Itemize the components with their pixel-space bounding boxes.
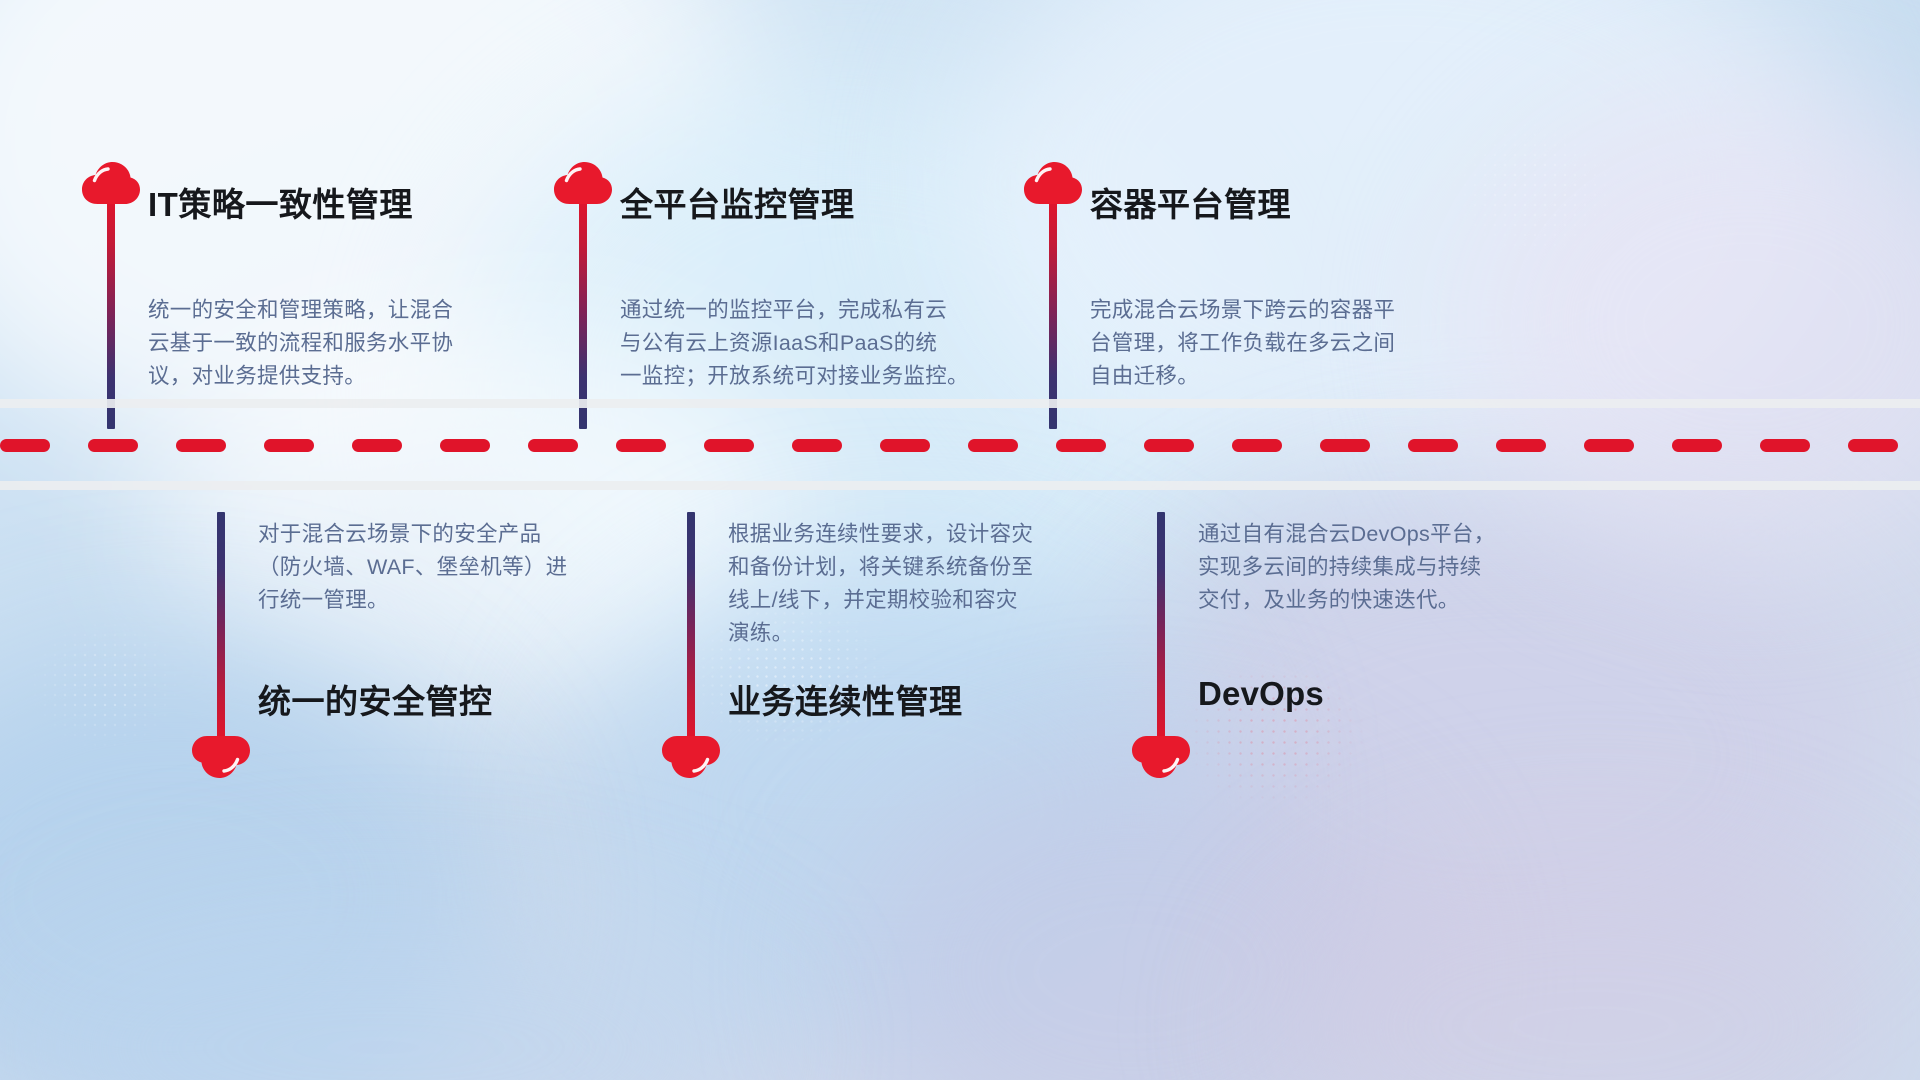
dash-segment [1056,439,1106,452]
dash-segment [1584,439,1634,452]
feature-title: 业务连续性管理 [728,675,963,723]
dash-segment [1496,439,1546,452]
dash-segment [440,439,490,452]
dash-segment [264,439,314,452]
dash-segment [1232,439,1282,452]
dash-segment [88,439,138,452]
connector-line [107,194,115,429]
connector-line [1157,512,1165,744]
dash-segment [0,439,50,452]
dash-segment [1408,439,1458,452]
dash-segment [792,439,842,452]
cloud-icon [1022,160,1084,206]
feature-description: 统一的安全和管理策略，让混合 云基于一致的流程和服务水平协 议，对业务提供支持。 [148,294,518,393]
connector-bottom-3 [1148,512,1174,782]
dash-segment [616,439,666,452]
feature-title: IT策略一致性管理 [148,178,413,226]
dash-segment [1760,439,1810,452]
dash-segment [1672,439,1722,452]
dash-segment [352,439,402,452]
dashed-separator [0,439,1920,452]
cloud-icon [1130,734,1192,780]
dash-segment [968,439,1018,452]
dash-segment [176,439,226,452]
dash-segment [704,439,754,452]
cloud-icon [190,734,252,780]
connector-bottom-1 [208,512,234,782]
dash-segment [880,439,930,452]
connector-top-3 [1040,160,1066,470]
cloud-icon [80,160,142,206]
dash-segment [1320,439,1370,452]
feature-title: 统一的安全管控 [258,675,493,723]
feature-title: 容器平台管理 [1090,178,1291,226]
connector-top-2 [570,160,596,470]
feature-title: 全平台监控管理 [620,178,855,226]
divider-rail-bottom [0,481,1920,490]
connector-line [579,194,587,429]
dash-segment [528,439,578,452]
feature-description: 对于混合云场景下的安全产品 （防火墙、WAF、堡垒机等）进 行统一管理。 [258,518,628,617]
connector-bottom-2 [678,512,704,782]
feature-title: DevOps [1198,675,1324,713]
feature-description: 完成混合云场景下跨云的容器平 台管理，将工作负载在多云之间 自由迁移。 [1090,294,1460,393]
connector-line [217,512,225,744]
dash-segment [1144,439,1194,452]
connector-line [687,512,695,744]
connector-top-1 [98,160,124,470]
feature-description: 通过自有混合云DevOps平台， 实现多云间的持续集成与持续 交付，及业务的快速… [1198,518,1568,617]
feature-description: 根据业务连续性要求，设计容灾 和备份计划，将关键系统备份至 线上/线下，并定期校… [728,518,1098,650]
connector-line [1049,194,1057,429]
divider-rail-top [0,399,1920,408]
dash-segment [1848,439,1898,452]
cloud-icon [552,160,614,206]
cloud-icon [660,734,722,780]
feature-description: 通过统一的监控平台，完成私有云 与公有云上资源IaaS和PaaS的统 一监控；开… [620,294,1012,393]
